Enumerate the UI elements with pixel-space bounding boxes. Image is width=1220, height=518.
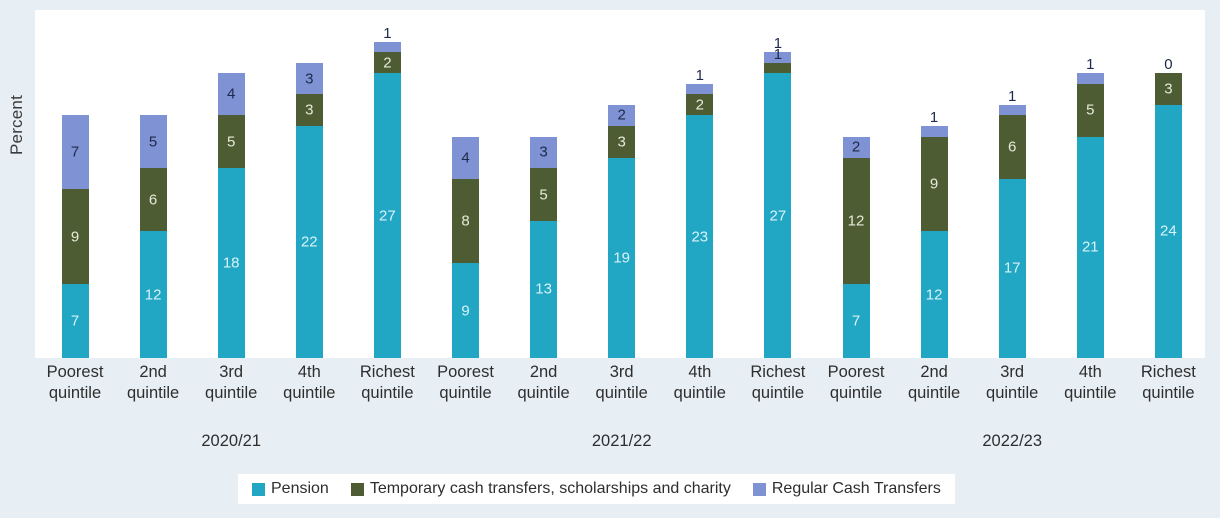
- bar-segment-regular[interactable]: 4: [218, 73, 245, 115]
- bar-segment-pension[interactable]: 7: [843, 284, 870, 358]
- bar-value-label: 9: [452, 303, 479, 318]
- bar-value-label: 19: [608, 250, 635, 265]
- bar-value-label: 2: [843, 140, 870, 155]
- chart-legend: PensionTemporary cash transfers, scholar…: [238, 474, 955, 504]
- bar-value-label: 1: [374, 26, 401, 41]
- legend-label: Regular Cash Transfers: [772, 480, 941, 498]
- bar-segment-temporary[interactable]: 3: [608, 126, 635, 158]
- x-tick-label: Poorestquintile: [811, 362, 901, 404]
- bar-segment-temporary[interactable]: 5: [530, 168, 557, 221]
- bar-stack[interactable]: 797: [62, 115, 89, 358]
- bar-segment-pension[interactable]: 22: [296, 126, 323, 358]
- bar-stack[interactable]: 1912: [921, 126, 948, 358]
- stacked-bar-chart: Percent 79756124518332212274893513231912…: [0, 0, 1220, 518]
- bar-segment-regular[interactable]: 1: [1077, 73, 1104, 84]
- bar-stack[interactable]: 0324: [1155, 73, 1182, 358]
- x-tick-label-line: Richest: [733, 362, 823, 383]
- x-tick-label-line: 4th: [1045, 362, 1135, 383]
- bar-value-label: 1: [999, 89, 1026, 104]
- legend-label: Pension: [271, 480, 329, 498]
- bar-value-label: 6: [999, 140, 1026, 155]
- x-tick-label-line: quintile: [264, 383, 354, 404]
- bar-value-label: 5: [140, 134, 167, 149]
- x-tick-label: 4thquintile: [1045, 362, 1135, 404]
- bar-segment-pension[interactable]: 12: [140, 231, 167, 358]
- bar-value-label: 2: [608, 108, 635, 123]
- bar-value-label: 3: [296, 103, 323, 118]
- bar-value-label: 9: [921, 177, 948, 192]
- bar-segment-regular[interactable]: 3: [530, 137, 557, 169]
- bar-stack[interactable]: 1227: [374, 42, 401, 358]
- x-tick-label: Richestquintile: [1123, 362, 1213, 404]
- bar-value-label: 9: [62, 229, 89, 244]
- y-axis-title: Percent: [7, 125, 27, 155]
- bar-segment-regular[interactable]: 1: [686, 84, 713, 95]
- bar-segment-regular[interactable]: 3: [296, 63, 323, 95]
- bar-value-label: 3: [608, 134, 635, 149]
- bar-value-label: 7: [62, 314, 89, 329]
- bar-segment-pension[interactable]: 13: [530, 221, 557, 358]
- x-tick-label-line: quintile: [342, 383, 432, 404]
- bar-value-label: 1: [764, 47, 791, 62]
- bar-value-label: 21: [1077, 240, 1104, 255]
- bar-stack[interactable]: 3322: [296, 63, 323, 358]
- bar-segment-temporary[interactable]: 5: [1077, 84, 1104, 137]
- x-group-label: 2021/22: [522, 432, 722, 451]
- bar-value-label: 0: [1155, 57, 1182, 72]
- x-tick-label: Poorestquintile: [30, 362, 120, 404]
- plot-area: 7975612451833221227489351323191223112721…: [35, 10, 1205, 358]
- bar-segment-pension[interactable]: 7: [62, 284, 89, 358]
- bar-segment-pension[interactable]: 21: [1077, 137, 1104, 358]
- bar-segment-temporary[interactable]: 3: [1155, 73, 1182, 105]
- x-tick-label-line: quintile: [733, 383, 823, 404]
- bar-value-label: 27: [764, 208, 791, 223]
- bar-stack[interactable]: 1521: [1077, 73, 1104, 358]
- x-tick-label-line: 3rd: [186, 362, 276, 383]
- x-tick-label-line: 4th: [264, 362, 354, 383]
- legend-item-regular[interactable]: Regular Cash Transfers: [753, 480, 941, 498]
- bar-value-label: 1: [686, 68, 713, 83]
- x-tick-label: Richestquintile: [733, 362, 823, 404]
- bar-segment-regular[interactable]: 1: [374, 42, 401, 53]
- bar-segment-pension[interactable]: 9: [452, 263, 479, 358]
- x-tick-label-line: quintile: [967, 383, 1057, 404]
- bar-segment-temporary[interactable]: 5: [218, 115, 245, 168]
- x-tick-label-line: quintile: [655, 383, 745, 404]
- bar-value-label: 13: [530, 282, 557, 297]
- bar-value-label: 12: [140, 287, 167, 302]
- x-tick-label-line: quintile: [1045, 383, 1135, 404]
- bar-value-label: 4: [452, 150, 479, 165]
- x-tick-label-line: quintile: [889, 383, 979, 404]
- x-tick-label-line: 2nd: [499, 362, 589, 383]
- x-tick-label-line: 4th: [655, 362, 745, 383]
- bar-value-label: 7: [843, 314, 870, 329]
- x-tick-label-line: 3rd: [967, 362, 1057, 383]
- bar-value-label: 22: [296, 235, 323, 250]
- bar-value-label: 8: [452, 213, 479, 228]
- bar-value-label: 5: [1077, 103, 1104, 118]
- x-tick-label: 4thquintile: [264, 362, 354, 404]
- legend-item-temporary[interactable]: Temporary cash transfers, scholarships a…: [351, 480, 731, 498]
- bar-segment-temporary[interactable]: 8: [452, 179, 479, 263]
- x-tick-label-line: quintile: [30, 383, 120, 404]
- bar-value-label: 3: [530, 145, 557, 160]
- bar-segment-pension[interactable]: 24: [1155, 105, 1182, 358]
- bar-stack[interactable]: 2127: [843, 137, 870, 358]
- x-tick-label-line: quintile: [186, 383, 276, 404]
- bar-segment-regular[interactable]: 2: [608, 105, 635, 126]
- x-tick-label-line: 2nd: [889, 362, 979, 383]
- bar-segment-temporary[interactable]: 1: [764, 63, 791, 74]
- x-tick-label-line: Poorest: [30, 362, 120, 383]
- bar-segment-pension[interactable]: 27: [764, 73, 791, 358]
- x-tick-label-line: Poorest: [421, 362, 511, 383]
- bar-stack[interactable]: 489: [452, 137, 479, 358]
- bar-segment-temporary[interactable]: 3: [296, 94, 323, 126]
- bar-segment-temporary[interactable]: 6: [999, 115, 1026, 178]
- bar-segment-pension[interactable]: 18: [218, 168, 245, 358]
- legend-item-pension[interactable]: Pension: [252, 480, 329, 498]
- x-tick-label: 4thquintile: [655, 362, 745, 404]
- bar-value-label: 3: [1155, 82, 1182, 97]
- bar-value-label: 18: [218, 256, 245, 271]
- bar-segment-regular[interactable]: 2: [843, 137, 870, 158]
- x-group-label: 2020/21: [131, 432, 331, 451]
- x-tick-label: 2ndquintile: [499, 362, 589, 404]
- bar-segment-temporary[interactable]: 9: [62, 189, 89, 284]
- bar-segment-temporary[interactable]: 2: [686, 94, 713, 115]
- x-tick-label-line: 3rd: [577, 362, 667, 383]
- x-tick-label-line: Richest: [342, 362, 432, 383]
- bar-stack[interactable]: 3513: [530, 137, 557, 358]
- bar-stack[interactable]: 4518: [218, 73, 245, 358]
- bar-segment-regular[interactable]: 5: [140, 115, 167, 168]
- x-tick-label-line: quintile: [421, 383, 511, 404]
- bar-stack[interactable]: 1223: [686, 84, 713, 358]
- bar-value-label: 27: [374, 208, 401, 223]
- bar-value-label: 24: [1155, 224, 1182, 239]
- legend-swatch-temporary-icon: [351, 483, 364, 496]
- bar-value-label: 4: [218, 87, 245, 102]
- bar-segment-pension[interactable]: 23: [686, 115, 713, 358]
- bar-segment-pension[interactable]: 17: [999, 179, 1026, 358]
- x-tick-label: 3rdquintile: [967, 362, 1057, 404]
- x-tick-label: 3rdquintile: [186, 362, 276, 404]
- bar-stack[interactable]: 5612: [140, 115, 167, 358]
- x-tick-label-line: 2nd: [108, 362, 198, 383]
- legend-swatch-pension-icon: [252, 483, 265, 496]
- bar-value-label: 2: [374, 55, 401, 70]
- x-tick-label-line: quintile: [1123, 383, 1213, 404]
- bar-value-label: 12: [843, 213, 870, 228]
- bar-value-label: 1: [921, 110, 948, 125]
- bar-segment-regular[interactable]: 7: [62, 115, 89, 189]
- bar-value-label: 23: [686, 229, 713, 244]
- bar-value-label: 2: [686, 97, 713, 112]
- bar-value-label: 5: [530, 187, 557, 202]
- x-tick-label-line: Poorest: [811, 362, 901, 383]
- bar-value-label: 3: [296, 71, 323, 86]
- bar-value-label: 5: [218, 134, 245, 149]
- bar-segment-regular[interactable]: 1: [999, 105, 1026, 116]
- legend-label: Temporary cash transfers, scholarships a…: [370, 480, 731, 498]
- bar-segment-temporary[interactable]: 2: [374, 52, 401, 73]
- x-tick-label: 2ndquintile: [108, 362, 198, 404]
- x-tick-label: 3rdquintile: [577, 362, 667, 404]
- legend-swatch-regular-icon: [753, 483, 766, 496]
- bar-value-label: 1: [1077, 57, 1104, 72]
- bar-segment-pension[interactable]: 19: [608, 158, 635, 358]
- x-tick-label-line: quintile: [108, 383, 198, 404]
- bar-value-label: 12: [921, 287, 948, 302]
- bar-segment-temporary[interactable]: 12: [843, 158, 870, 285]
- bar-segment-pension[interactable]: 12: [921, 231, 948, 358]
- x-tick-label: 2ndquintile: [889, 362, 979, 404]
- bar-value-label: 7: [62, 145, 89, 160]
- bar-stack[interactable]: 2319: [608, 105, 635, 358]
- x-tick-label-line: quintile: [499, 383, 589, 404]
- x-tick-label-line: quintile: [811, 383, 901, 404]
- x-tick-label: Poorestquintile: [421, 362, 511, 404]
- bar-segment-regular[interactable]: 4: [452, 137, 479, 179]
- bar-segment-pension[interactable]: 27: [374, 73, 401, 358]
- bar-stack[interactable]: 1617: [999, 105, 1026, 358]
- bar-segment-temporary[interactable]: 9: [921, 137, 948, 232]
- bar-value-label: 6: [140, 192, 167, 207]
- bar-stack[interactable]: 1127: [764, 52, 791, 358]
- bar-segment-regular[interactable]: 1: [921, 126, 948, 137]
- x-tick-label-line: Richest: [1123, 362, 1213, 383]
- bar-segment-temporary[interactable]: 6: [140, 168, 167, 231]
- x-tick-label: Richestquintile: [342, 362, 432, 404]
- bar-value-label: 17: [999, 261, 1026, 276]
- x-group-label: 2022/23: [912, 432, 1112, 451]
- x-tick-label-line: quintile: [577, 383, 667, 404]
